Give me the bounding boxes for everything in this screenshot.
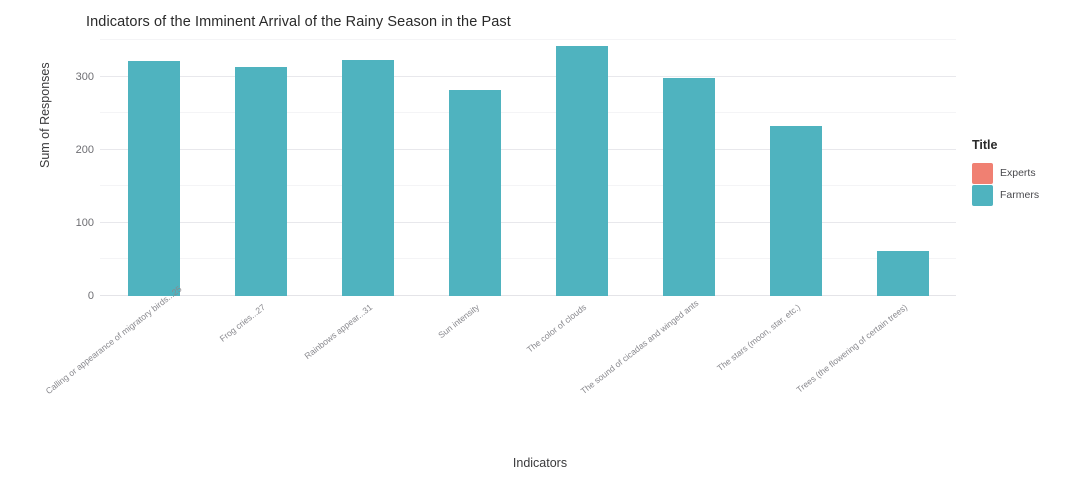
legend-swatch-icon bbox=[972, 185, 993, 206]
gridline bbox=[100, 39, 956, 40]
gridline bbox=[100, 149, 956, 150]
legend-entry[interactable]: Farmers bbox=[972, 184, 1072, 206]
legend-entry-label: Experts bbox=[1000, 167, 1036, 179]
legend-swatch-icon bbox=[972, 163, 993, 184]
legend: Title ExpertsFarmers bbox=[972, 138, 1072, 206]
y-tick-label: 100 bbox=[54, 217, 94, 229]
x-tick-label: Rainbows appear...31 bbox=[257, 302, 373, 396]
legend-entries: ExpertsFarmers bbox=[972, 162, 1072, 206]
x-tick-label: Sun intensity bbox=[364, 302, 480, 396]
gridline bbox=[100, 222, 956, 223]
bar[interactable] bbox=[342, 60, 394, 296]
bar[interactable] bbox=[449, 90, 501, 296]
bar[interactable] bbox=[556, 46, 608, 296]
x-axis-line bbox=[100, 295, 956, 296]
y-tick-label: 0 bbox=[54, 290, 94, 302]
gridline bbox=[100, 185, 956, 186]
bar[interactable] bbox=[663, 78, 715, 296]
legend-title: Title bbox=[972, 138, 1072, 152]
x-tick-label: The color of clouds bbox=[471, 302, 587, 396]
gridline bbox=[100, 76, 956, 77]
x-tick-label: Trees (the flowering of certain trees) bbox=[792, 302, 908, 396]
y-tick-label: 200 bbox=[54, 144, 94, 156]
y-axis-title: Sum of Responses bbox=[38, 62, 52, 168]
gridline bbox=[100, 258, 956, 259]
y-tick-label: 300 bbox=[54, 71, 94, 83]
x-tick-label: Frog cries...27 bbox=[150, 302, 266, 396]
plot-area bbox=[100, 40, 956, 296]
x-tick-label: The sound of cicadas and winged ants bbox=[578, 302, 694, 396]
legend-entry[interactable]: Experts bbox=[972, 162, 1072, 184]
legend-entry-label: Farmers bbox=[1000, 189, 1039, 201]
bar[interactable] bbox=[235, 67, 287, 296]
chart-title: Indicators of the Imminent Arrival of th… bbox=[86, 14, 511, 30]
x-axis-title: Indicators bbox=[0, 456, 1080, 470]
x-tick-label: The stars (moon, star, etc.) bbox=[685, 302, 801, 396]
chart-root: Indicators of the Imminent Arrival of th… bbox=[0, 0, 1080, 488]
bar[interactable] bbox=[128, 61, 180, 296]
bar[interactable] bbox=[770, 126, 822, 296]
x-tick-label: Calling or appearance of migratory birds… bbox=[43, 302, 159, 396]
bar[interactable] bbox=[877, 251, 929, 296]
gridline bbox=[100, 112, 956, 113]
